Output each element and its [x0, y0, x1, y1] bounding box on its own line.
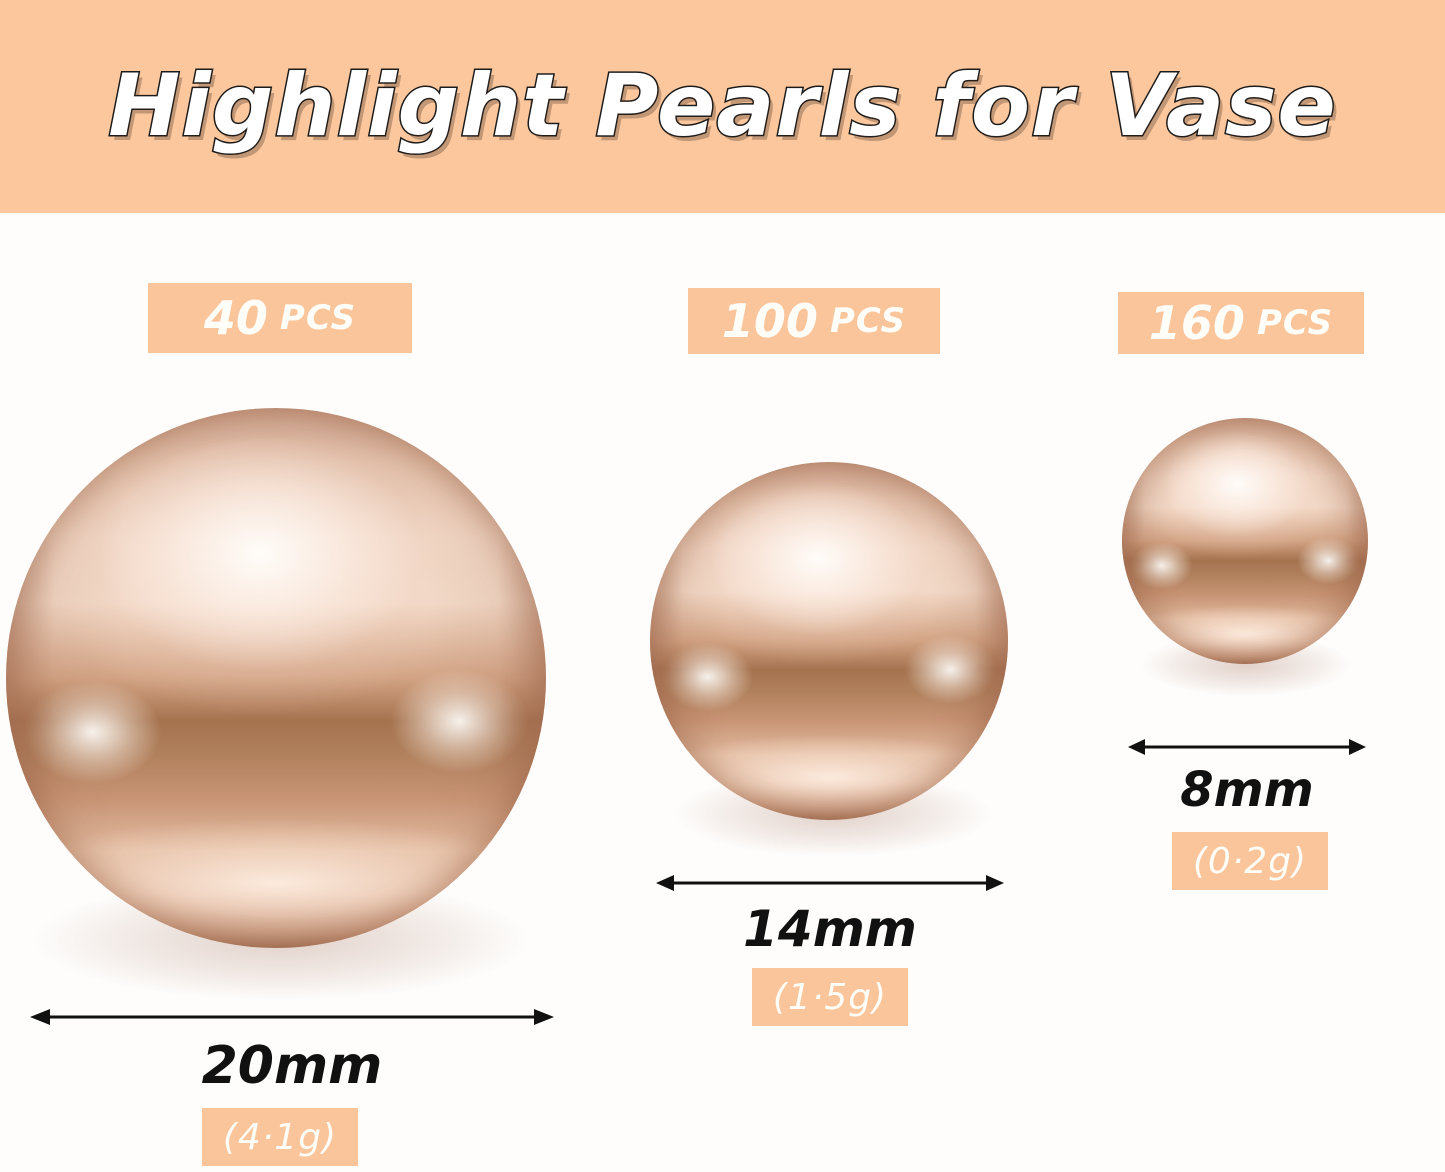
- pcs-count-small: 160: [1149, 296, 1245, 350]
- pearl-image-medium: [650, 462, 1008, 820]
- page-title: Highlight Pearls for Vase: [0, 56, 1445, 156]
- diameter-label-medium: 14mm: [656, 900, 1004, 958]
- pcs-unit-small: PCS: [1257, 303, 1333, 343]
- pearl-image-small: [1122, 418, 1368, 664]
- pearl-image-large: [6, 408, 546, 948]
- weight-badge-small: (0·2g): [1172, 832, 1328, 890]
- dimension-arrow-small: [1128, 736, 1366, 758]
- pcs-count-large: 40: [204, 291, 268, 345]
- dimension-arrow-large: [30, 1006, 554, 1028]
- pcs-unit-large: PCS: [280, 298, 356, 338]
- pcs-badge-medium: 100 PCS: [688, 288, 940, 354]
- diameter-label-large: 20mm: [30, 1036, 554, 1096]
- pcs-unit-medium: PCS: [830, 301, 906, 341]
- pcs-count-medium: 100: [722, 294, 818, 348]
- weight-badge-large: (4·1g): [202, 1108, 358, 1166]
- weight-badge-medium: (1·5g): [752, 968, 908, 1026]
- pcs-badge-small: 160 PCS: [1118, 292, 1364, 354]
- pearl-sphere-large: [6, 408, 546, 948]
- dimension-arrow-medium: [656, 872, 1004, 894]
- pcs-badge-large: 40 PCS: [148, 283, 412, 353]
- diameter-label-small: 8mm: [1128, 762, 1366, 818]
- pearl-sphere-small: [1122, 418, 1368, 664]
- pearls-infographic: Highlight Pearls for Vase 40 PCS 100 PCS…: [0, 0, 1445, 1172]
- pearl-sphere-medium: [650, 462, 1008, 820]
